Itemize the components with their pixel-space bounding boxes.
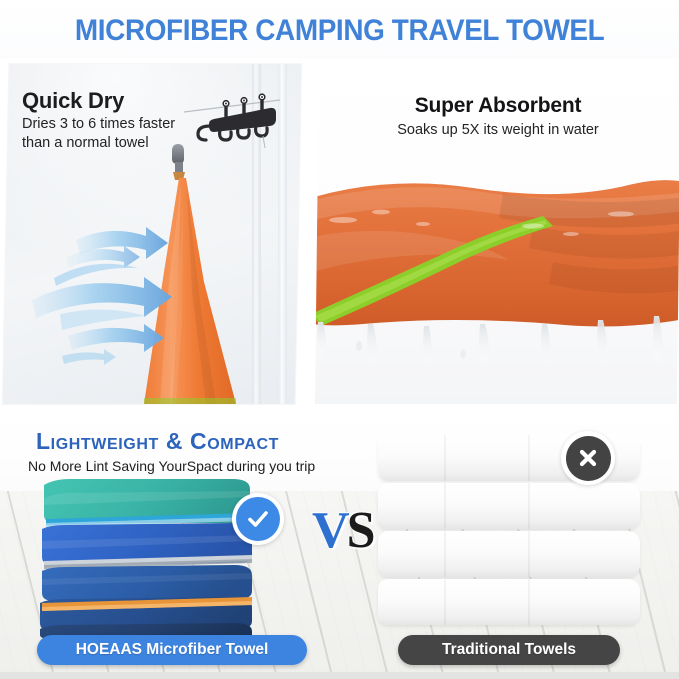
white-towel-3 <box>378 531 640 577</box>
quick-dry-title: Quick Dry <box>22 88 124 114</box>
bottom-strip <box>0 672 679 679</box>
versus-label: VS <box>312 505 372 557</box>
super-absorbent-subtitle: Soaks up 5X its weight in water <box>317 122 679 138</box>
super-absorbent-panel: Super Absorbent Soaks up 5X its weight i… <box>310 64 679 404</box>
airflow-arrows-icon <box>24 214 214 374</box>
wet-orange-towel-image <box>310 174 679 364</box>
quick-dry-panel: Quick Dry Dries 3 to 6 times faster than… <box>3 64 302 404</box>
check-circle-icon <box>232 493 284 545</box>
white-towel-2 <box>378 483 640 529</box>
hoeaas-towel-label-pill: HOEAAS Microfiber Towel <box>37 635 307 665</box>
comparison-section: Lightweight & Compact No More Lint Savin… <box>0 413 679 679</box>
versus-v: V <box>312 502 347 559</box>
quick-dry-subtitle: Dries 3 to 6 times faster than a normal … <box>22 115 272 152</box>
comparison-heading: Lightweight & Compact <box>36 428 279 455</box>
versus-s: S <box>347 502 373 559</box>
quick-dry-subtitle-line2: than a normal towel <box>22 134 272 153</box>
page-title: MICROFIBER CAMPING TRAVEL TOWEL <box>75 14 604 48</box>
feature-panels-row: Quick Dry Dries 3 to 6 times faster than… <box>0 58 679 413</box>
comparison-subheading: No More Lint Saving YourSpact during you… <box>28 458 315 474</box>
check-glyph <box>245 506 271 532</box>
super-absorbent-title: Super Absorbent <box>317 94 679 118</box>
quick-dry-subtitle-line1: Dries 3 to 6 times faster <box>22 115 272 134</box>
white-towel-4 <box>378 579 640 625</box>
traditional-towel-label-pill: Traditional Towels <box>398 635 620 665</box>
page-header: MICROFIBER CAMPING TRAVEL TOWEL <box>0 0 679 62</box>
x-circle-icon <box>561 431 615 485</box>
microfiber-towel-stack <box>36 479 256 639</box>
x-glyph <box>575 445 601 471</box>
